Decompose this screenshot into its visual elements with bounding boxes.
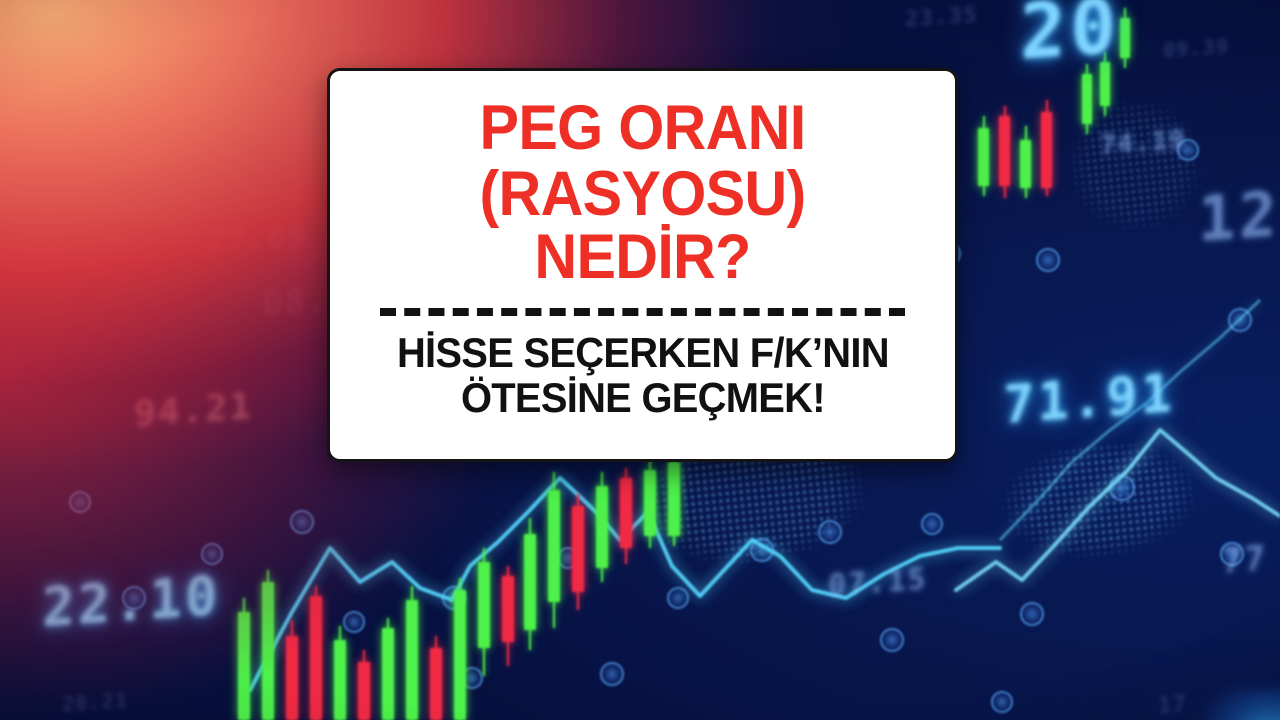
title-card: PEG ORANI(RASYOSU) NEDİR? HİSSE SEÇERKEN… [327,68,958,462]
page-title: PEG ORANI(RASYOSU) NEDİR? [371,97,913,288]
title-line-1: PEG ORANI [480,93,806,163]
page-subtitle: HİSSE SEÇERKEN F/K’NINÖTESİNE GEÇMEK! [397,330,889,421]
dashed-divider [380,308,905,316]
subtitle-line-2: ÖTESİNE GEÇMEK! [397,375,889,420]
subtitle-line-1: HİSSE SEÇERKEN F/K’NIN [397,329,889,376]
title-line-2: (RASYOSU) NEDİR? [371,163,913,288]
poster-canvas: 27.6908.94.2122.1028.212023.3509.3974.19… [0,0,1280,720]
